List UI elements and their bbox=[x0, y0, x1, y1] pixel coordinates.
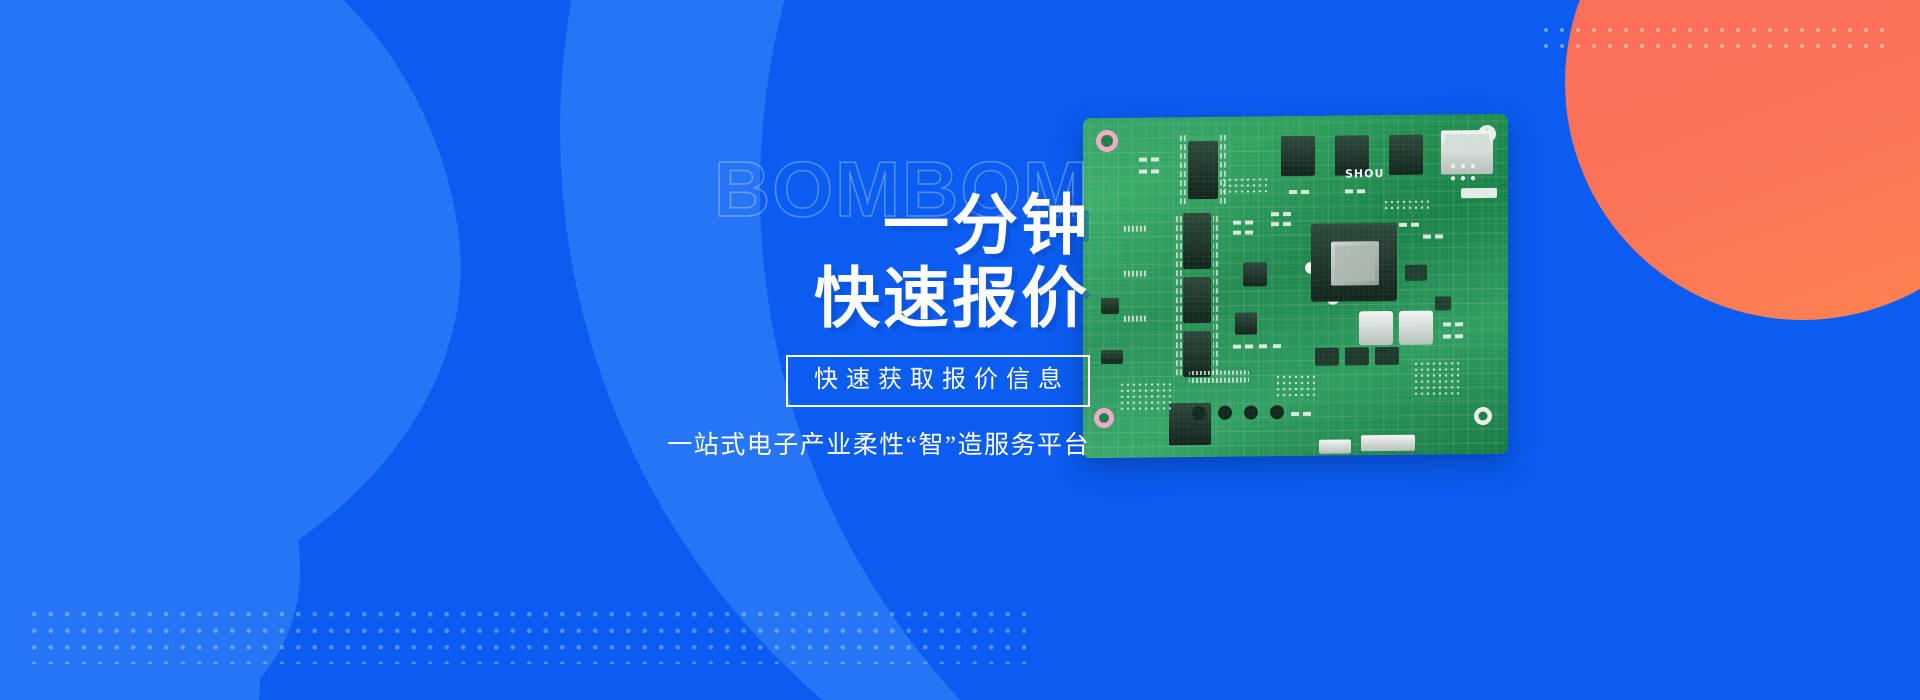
blue-blob-upper-left bbox=[0, 0, 506, 679]
get-quote-button[interactable]: 快速获取报价信息 bbox=[786, 355, 1090, 407]
headline-line-1: 一分钟 bbox=[883, 188, 1090, 262]
tagline: 一站式电子产业柔性“智”造服务平台 bbox=[620, 425, 1090, 461]
blue-blob-lower-left bbox=[0, 470, 260, 700]
dot-grid-top-right bbox=[1538, 22, 1890, 48]
banner-copy: BOMBOM 一分钟 快速报价 快速获取报价信息 一站式电子产业柔性“智”造服务… bbox=[620, 150, 1090, 461]
headline-line-2: 快速报价 bbox=[620, 265, 1090, 332]
pcb-substrate: SHOU bbox=[1083, 114, 1508, 458]
promo-banner: SHOU BOMBOM 一分钟 快速报价 快速获取报价信息 一站式电子产业柔性“… bbox=[0, 0, 1920, 700]
pcb-components-svg: SHOU bbox=[1083, 114, 1508, 458]
blue-blob-mid-left bbox=[0, 300, 300, 700]
get-quote-button-label: 快速获取报价信息 bbox=[814, 365, 1070, 395]
coral-circle-decoration bbox=[1565, 0, 1920, 320]
headline: 一分钟 快速报价 bbox=[620, 192, 1090, 333]
svg-text:SHOU: SHOU bbox=[1345, 167, 1384, 180]
dot-grid-bottom-left bbox=[26, 606, 1026, 664]
pcb-board-image: SHOU bbox=[1083, 116, 1508, 456]
